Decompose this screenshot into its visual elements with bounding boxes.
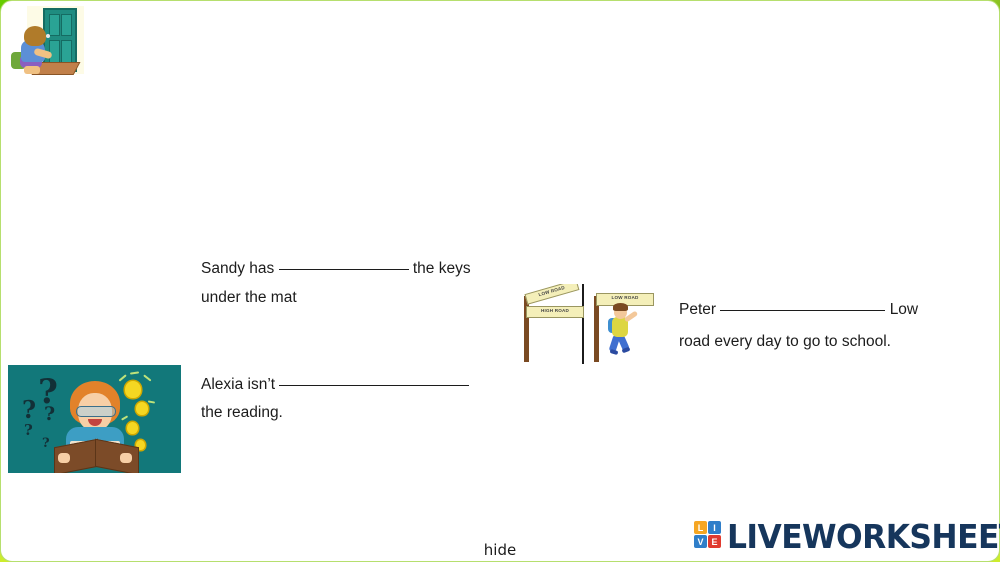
question-mark: ? <box>44 405 55 424</box>
boy-shoe <box>622 347 631 353</box>
exercise-3-text-after: the keys <box>413 260 471 277</box>
exercise-4-line-2: road every day to go to school. <box>679 328 891 355</box>
road-signs-illustration: LOW ROAD HIGH ROAD LOW ROAD <box>510 284 658 364</box>
worksheet-page: Choose the correct form of the verb to c… <box>0 0 1000 562</box>
question-mark: ? <box>22 398 36 422</box>
logo-tile-i: I <box>708 521 721 534</box>
girl-hair <box>24 26 46 46</box>
exercise-4-text-after: Low <box>890 301 918 318</box>
exercise-4-blank[interactable] <box>720 310 885 311</box>
book-right-cover <box>95 439 139 473</box>
flashcard-scene <box>7 6 84 74</box>
light-bulb-icon <box>136 402 148 415</box>
door-knob <box>46 34 50 38</box>
girl-hand <box>58 453 70 463</box>
glasses-icon <box>76 406 116 417</box>
boy-shoe <box>610 349 619 355</box>
logo-tile-v: V <box>694 535 707 548</box>
hide-flashcard-image: hide <box>0 0 89 98</box>
exercise-3-text-before: Sandy has <box>201 260 274 277</box>
sign-low-road-left: LOW ROAD <box>524 284 579 305</box>
girl-leg <box>24 66 40 74</box>
sign-high-road: HIGH ROAD <box>526 306 584 318</box>
question-mark: ? <box>42 437 50 450</box>
flashcard-frame: hide <box>0 0 1000 562</box>
logo-letter-tiles: L I V E <box>694 521 721 548</box>
girl-hand <box>120 453 132 463</box>
logo-tile-e: E <box>708 535 721 548</box>
panel-divider <box>582 284 584 364</box>
girl-reading-book-illustration: ? ? ? ? ? <box>8 365 181 473</box>
exercise-5-blank[interactable] <box>279 385 469 386</box>
exercise-5-text-before: Alexia isn’t <box>201 376 275 393</box>
exercise-5-line-1: Alexia isn’t <box>201 371 469 398</box>
light-bulb-icon <box>125 381 141 398</box>
boy-hair <box>613 303 628 311</box>
logo-wordmark: LIVEWORKSHEETS <box>727 517 1000 556</box>
exercise-3-line-1: Sandy has the keys <box>201 255 471 282</box>
logo-tile-l: L <box>694 521 707 534</box>
exercise-4-text-before: Peter <box>679 301 716 318</box>
exercise-4-line-1: Peter Low <box>679 296 918 323</box>
exercise-5-line-2: the reading. <box>201 399 283 426</box>
light-bulb-icon <box>127 422 138 434</box>
exercise-3-line-2: under the mat <box>201 284 297 311</box>
exercise-3-blank[interactable] <box>279 269 409 270</box>
question-mark: ? <box>24 423 33 438</box>
